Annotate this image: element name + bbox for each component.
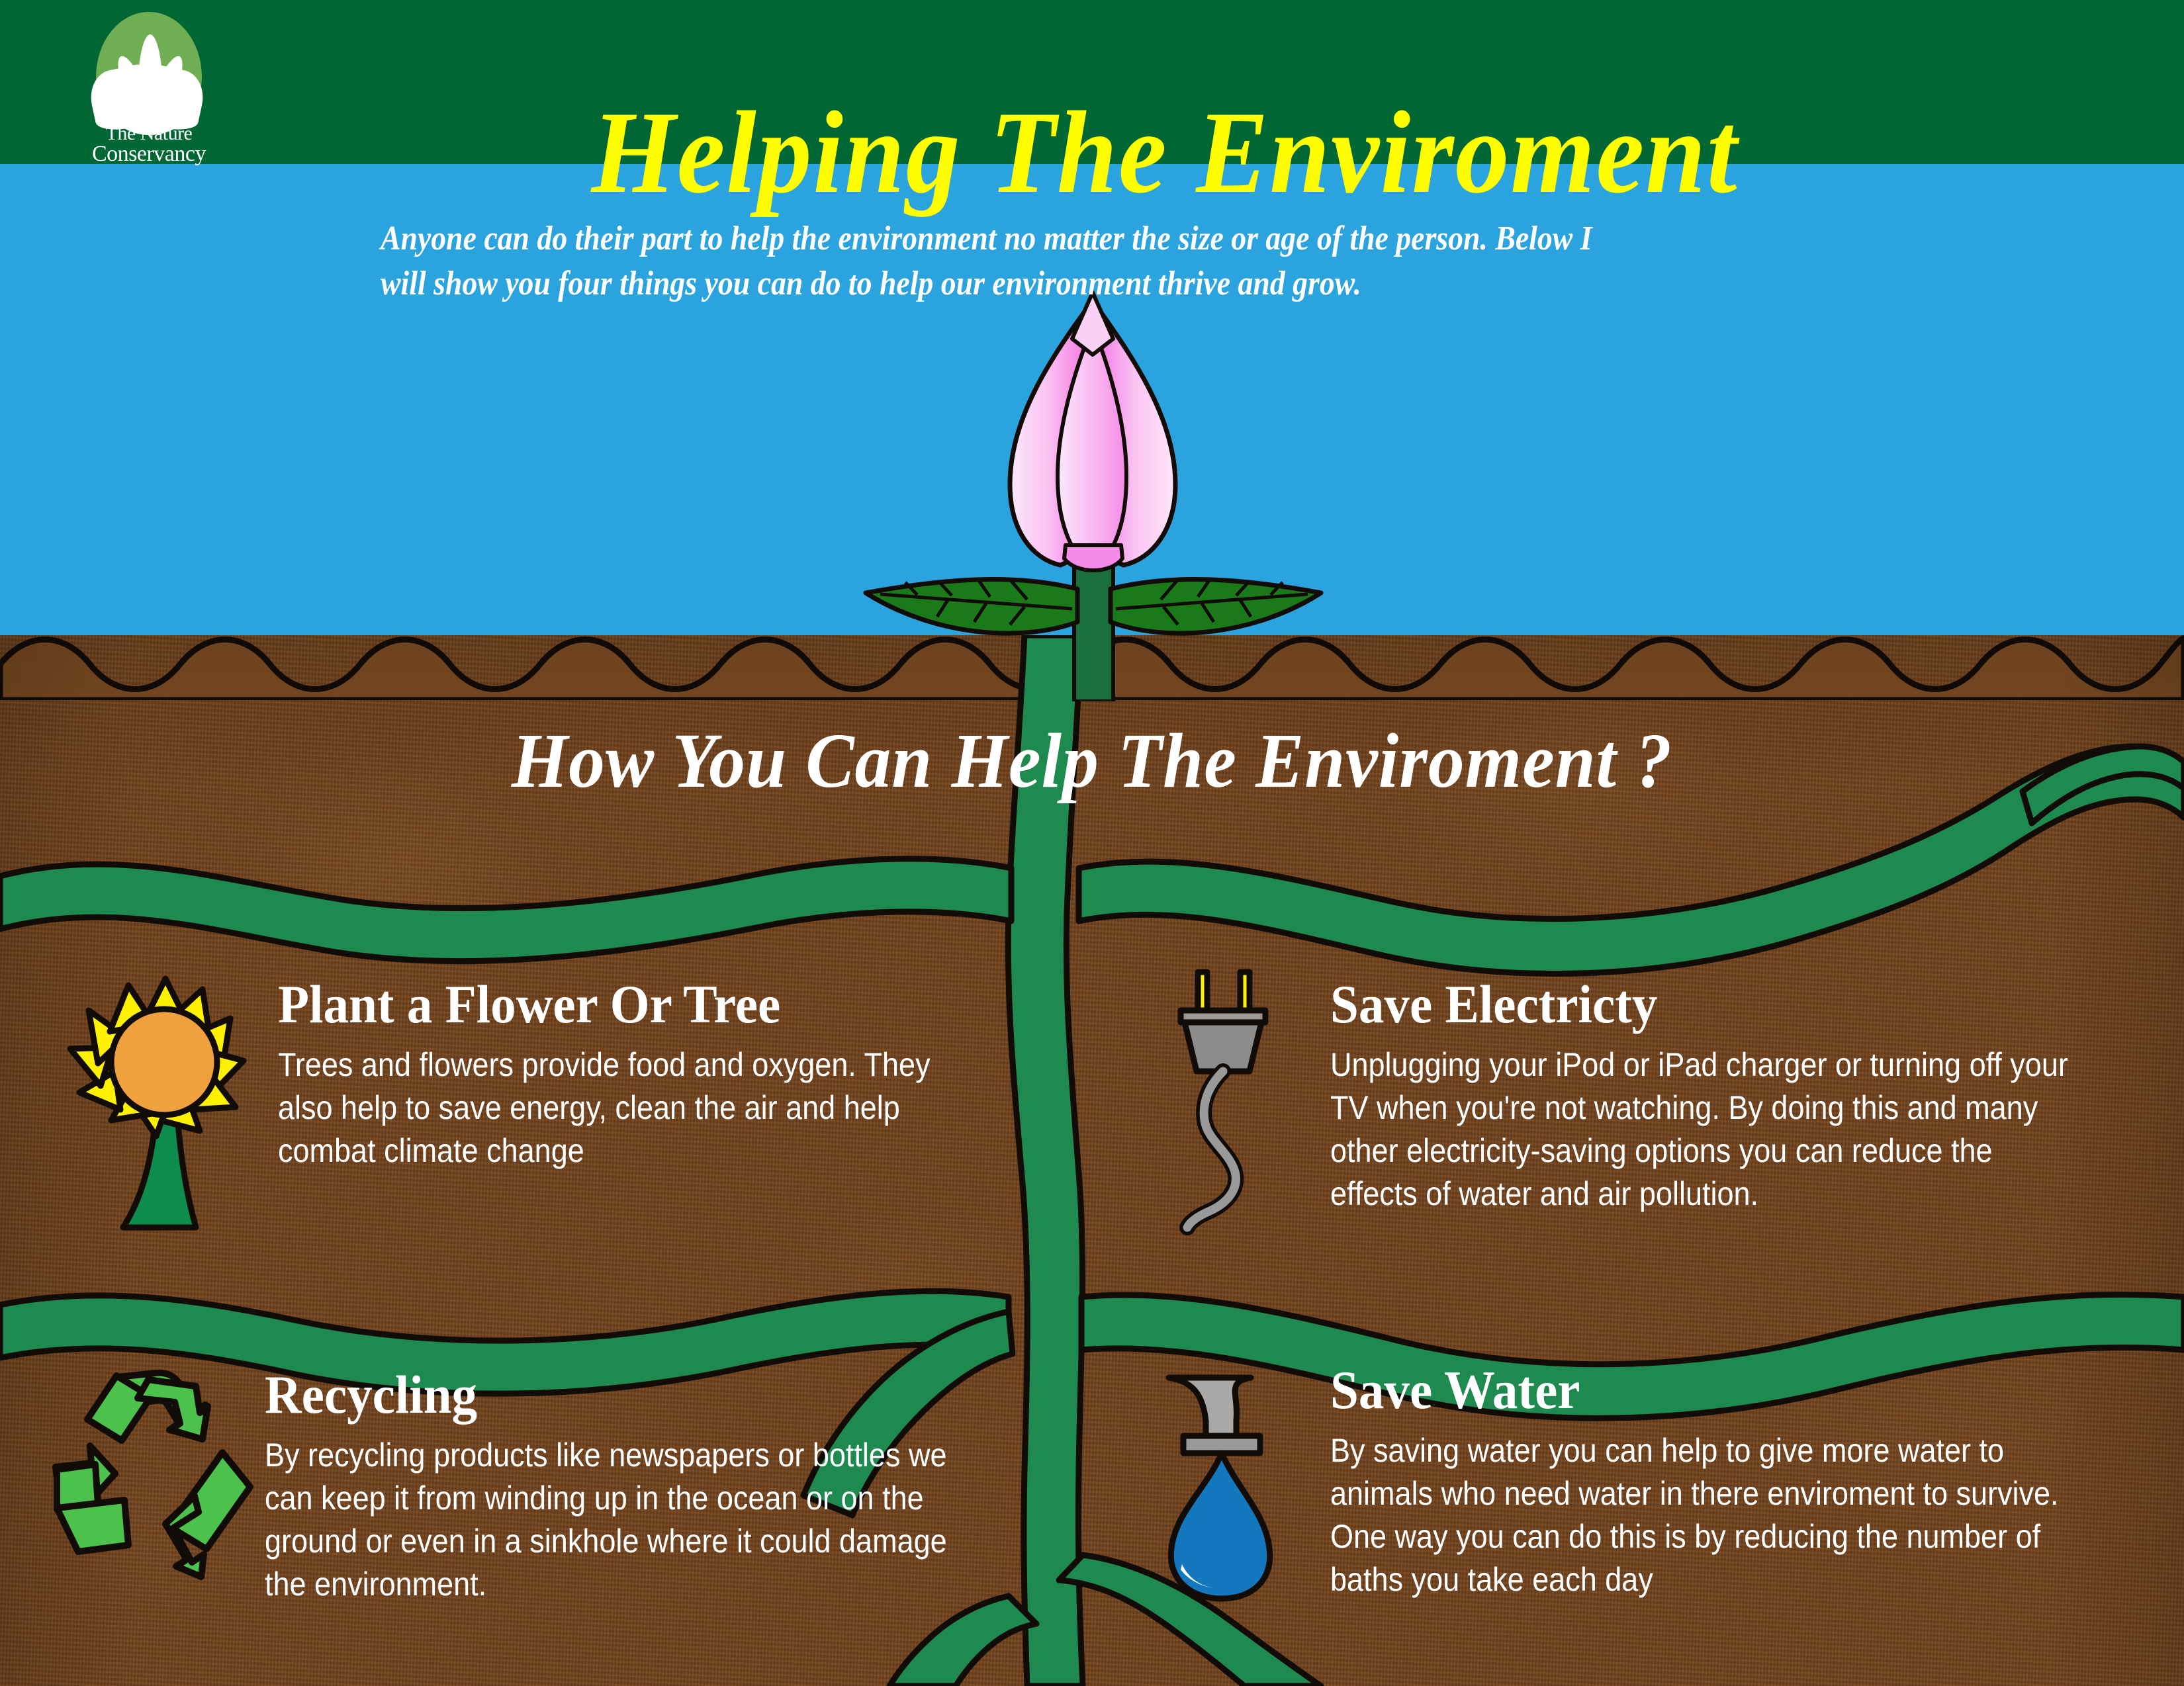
tip-body: Save Electricty Unplugging your iPod or … <box>1330 977 2171 1216</box>
tip-text: Unplugging your iPod or iPad charger or … <box>1330 1043 2087 1216</box>
faucet-water-drop-icon <box>1152 1343 1330 1611</box>
sunflower-icon <box>60 963 271 1244</box>
plug-prong-left <box>1198 972 1207 1013</box>
tip-text: By recycling products like newspapers or… <box>265 1434 956 1606</box>
water-drop <box>1171 1453 1269 1599</box>
plant-leaf-left <box>866 580 1077 634</box>
tip-block-recycling: Recycling By recycling products like new… <box>40 1353 1032 1658</box>
root-lateral-upper-left <box>0 859 1011 961</box>
nature-conservancy-logo[interactable]: The Nature Conservancy <box>73 7 225 159</box>
tip-body: Save Water By saving water you can help … <box>1330 1363 2164 1601</box>
faucet-spout <box>1169 1378 1251 1436</box>
infographic-poster: How You Can Help The Enviroment ? <box>0 0 2184 1686</box>
electric-plug-icon <box>1165 963 1330 1244</box>
tip-title: Save Water <box>1330 1363 2114 1417</box>
intro-paragraph: Anyone can do their part to help the env… <box>381 216 1627 306</box>
recycling-arrows-icon <box>40 1353 258 1588</box>
recycle-arrow-right <box>169 1452 250 1549</box>
tulip-plant-illustration <box>854 278 1330 701</box>
tip-block-save-water: Save Water By saving water you can help … <box>1152 1343 2171 1654</box>
page-title: Helping The Enviroment <box>434 91 1895 214</box>
tip-block-save-electricity: Save Electricty Unplugging your iPod or … <box>1165 963 2171 1294</box>
logo-wordmark-line2: Conservancy <box>73 144 225 165</box>
logo-wordmark: The Nature Conservancy <box>73 124 225 165</box>
tip-title: Recycling <box>265 1368 986 1422</box>
tip-title: Save Electricty <box>1330 977 2120 1032</box>
logo-wordmark-line1: The Nature <box>73 124 225 144</box>
sunflower-center <box>111 1009 217 1115</box>
tip-text: By saving water you can help to give mor… <box>1330 1429 2081 1601</box>
poster-header: The Nature Conservancy Helping The Envir… <box>0 0 2184 164</box>
plant-leaf-right <box>1111 580 1321 634</box>
recycle-arrow-left-fold <box>57 1500 128 1552</box>
tip-title: Plant a Flower Or Tree <box>278 977 999 1032</box>
plug-prong-right <box>1240 972 1250 1013</box>
tip-body: Recycling By recycling products like new… <box>265 1368 1032 1606</box>
tip-text: Trees and flowers provide food and oxyge… <box>278 1043 969 1173</box>
tip-block-plant-a-flower: Plant a Flower Or Tree Trees and flowers… <box>60 963 1052 1280</box>
plant-flower-bud <box>1010 292 1175 570</box>
section-heading: How You Can Help The Enviroment ? <box>77 716 2108 806</box>
tip-body: Plant a Flower Or Tree Trees and flowers… <box>278 977 1046 1173</box>
